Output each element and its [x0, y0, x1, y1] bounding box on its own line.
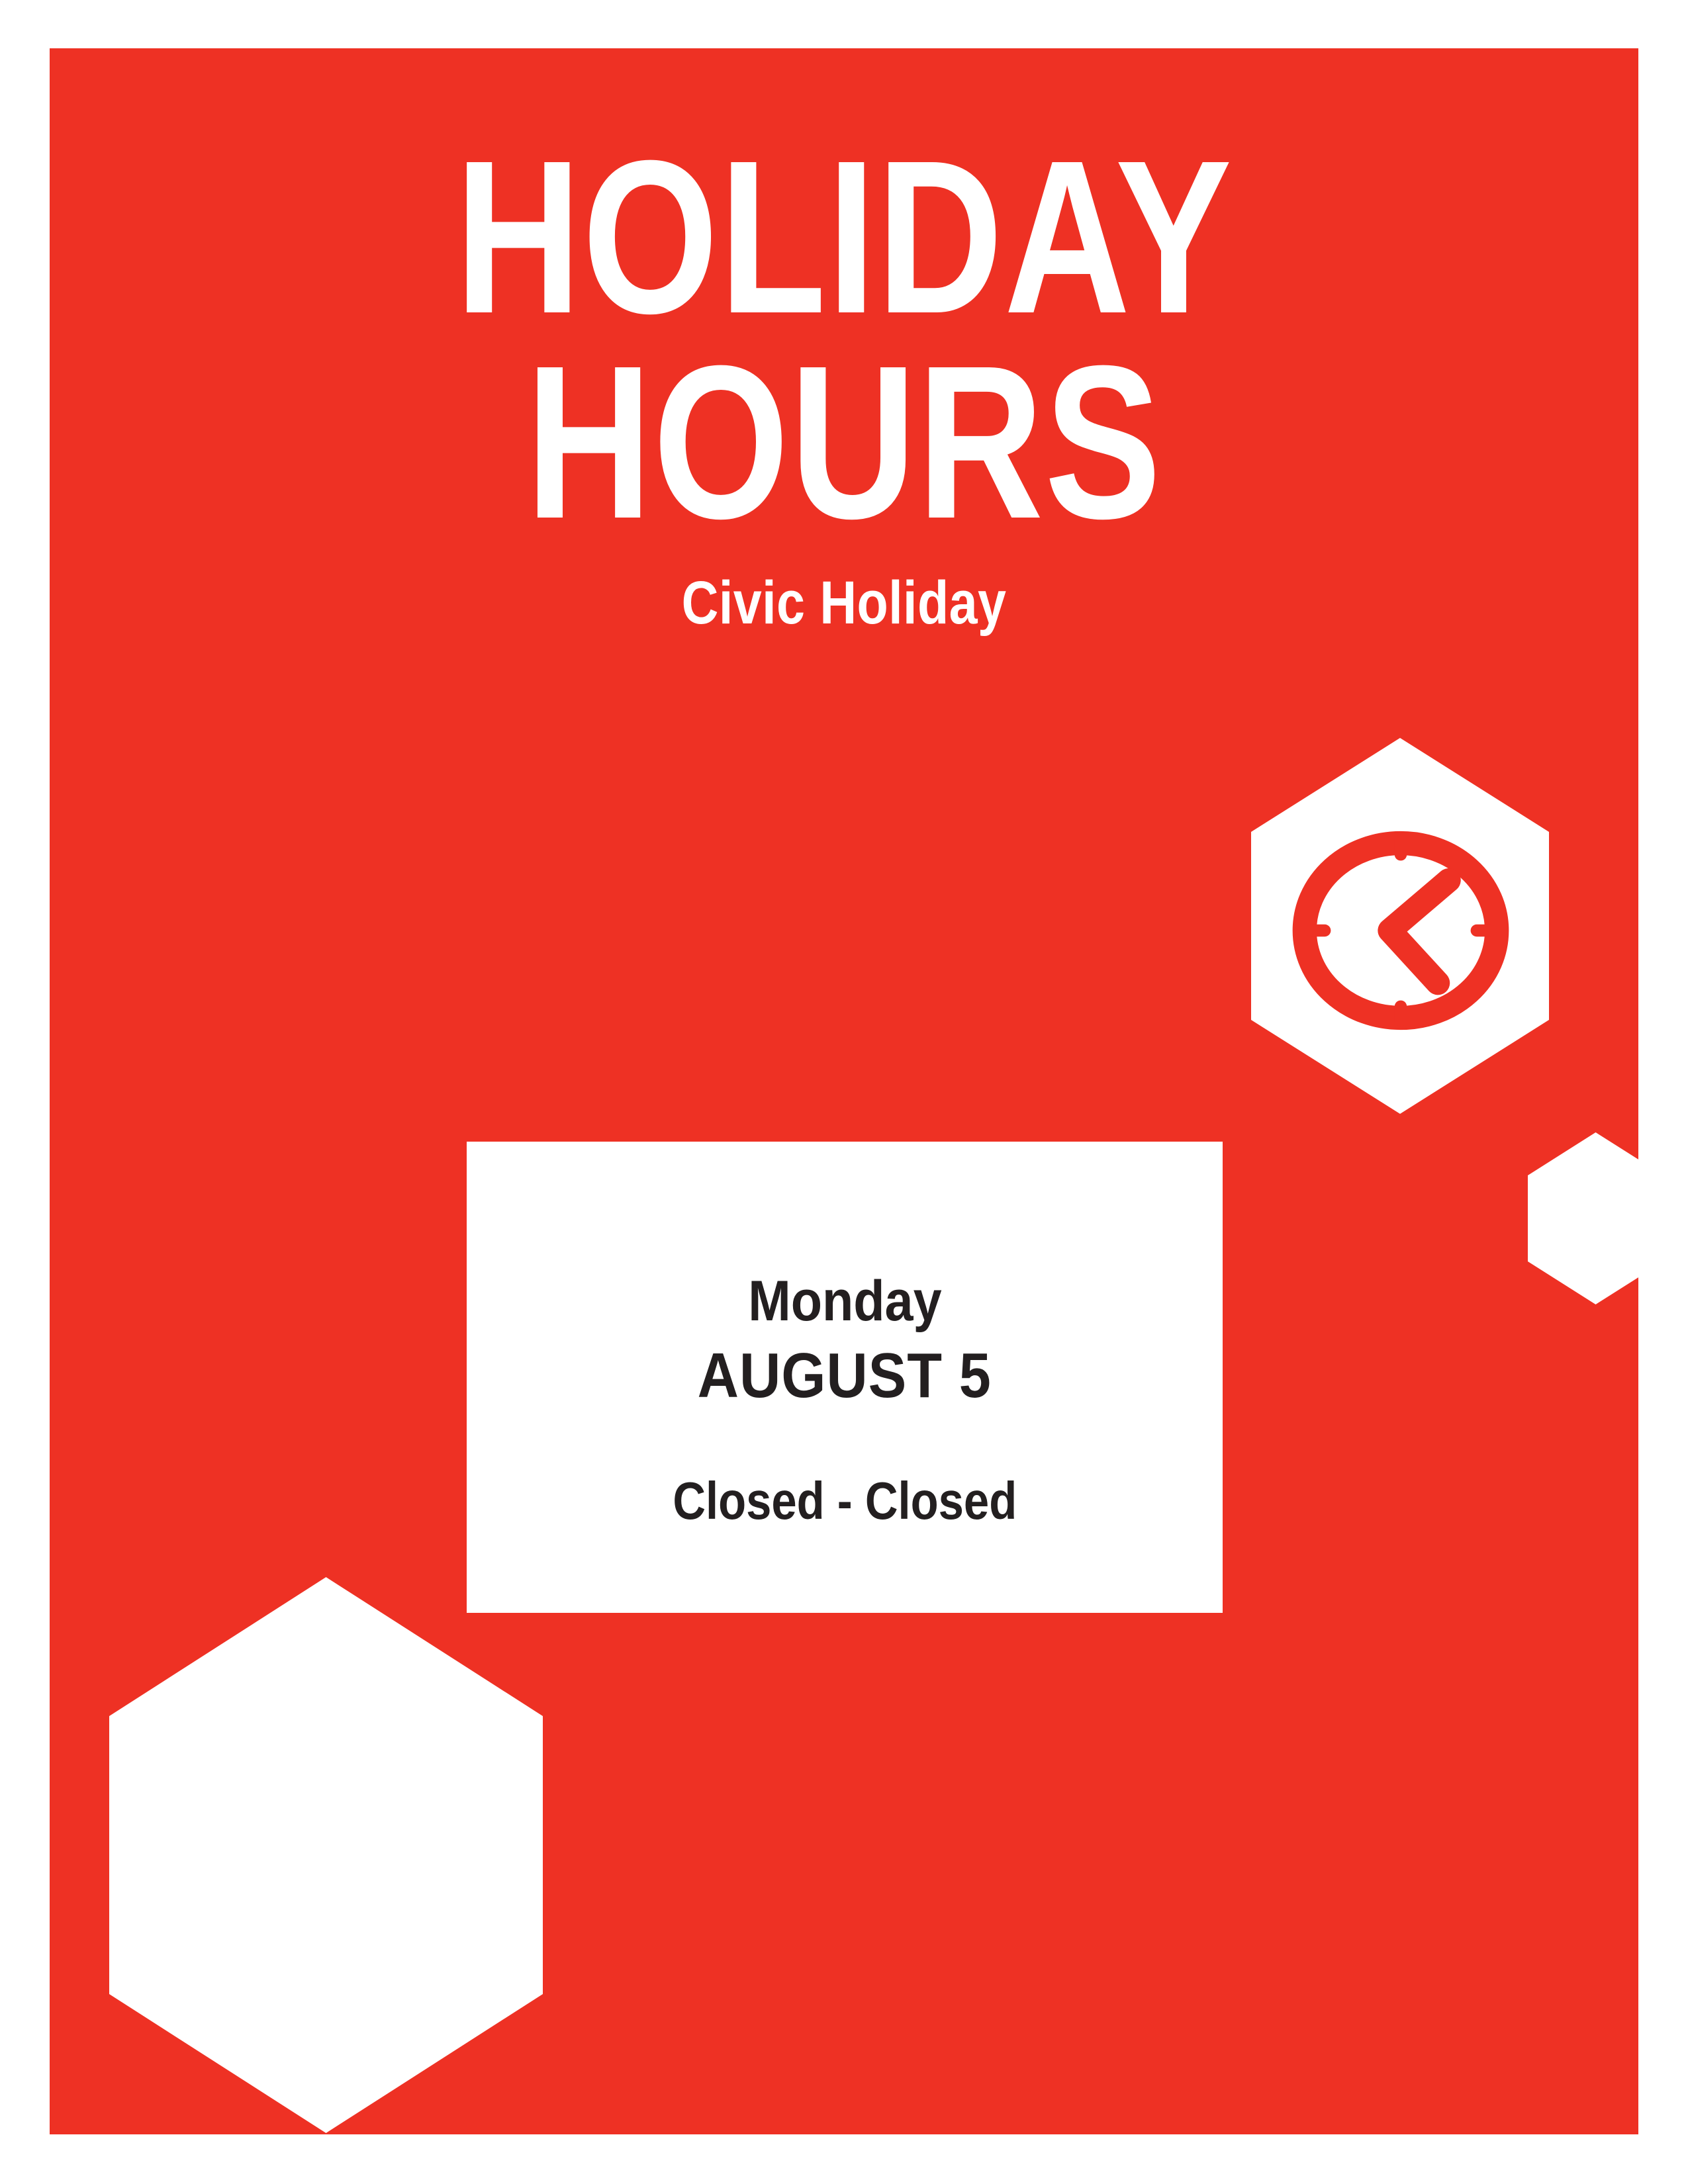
schedule-hours: Closed - Closed	[673, 1473, 1017, 1529]
page-title-line-2: HOURS	[209, 340, 1479, 545]
schedule-card: Monday AUGUST 5 Closed - Closed	[467, 1142, 1223, 1613]
page-title-line-1: HOLIDAY	[209, 134, 1479, 340]
page-subtitle: Civic Holiday	[177, 572, 1511, 633]
hexagon-bottom-left-shape	[109, 1577, 543, 2133]
schedule-date: AUGUST 5	[698, 1342, 992, 1410]
holiday-hours-poster: HOLIDAY HOURS Civic Holiday Monday	[0, 0, 1688, 2184]
schedule-day: Monday	[748, 1271, 941, 1332]
hexagon-small-shape	[1528, 1132, 1638, 1304]
red-background-panel: HOLIDAY HOURS Civic Holiday Monday	[50, 48, 1638, 2134]
headline-block: HOLIDAY HOURS Civic Holiday	[50, 134, 1638, 633]
clock-icon	[1291, 821, 1510, 1040]
